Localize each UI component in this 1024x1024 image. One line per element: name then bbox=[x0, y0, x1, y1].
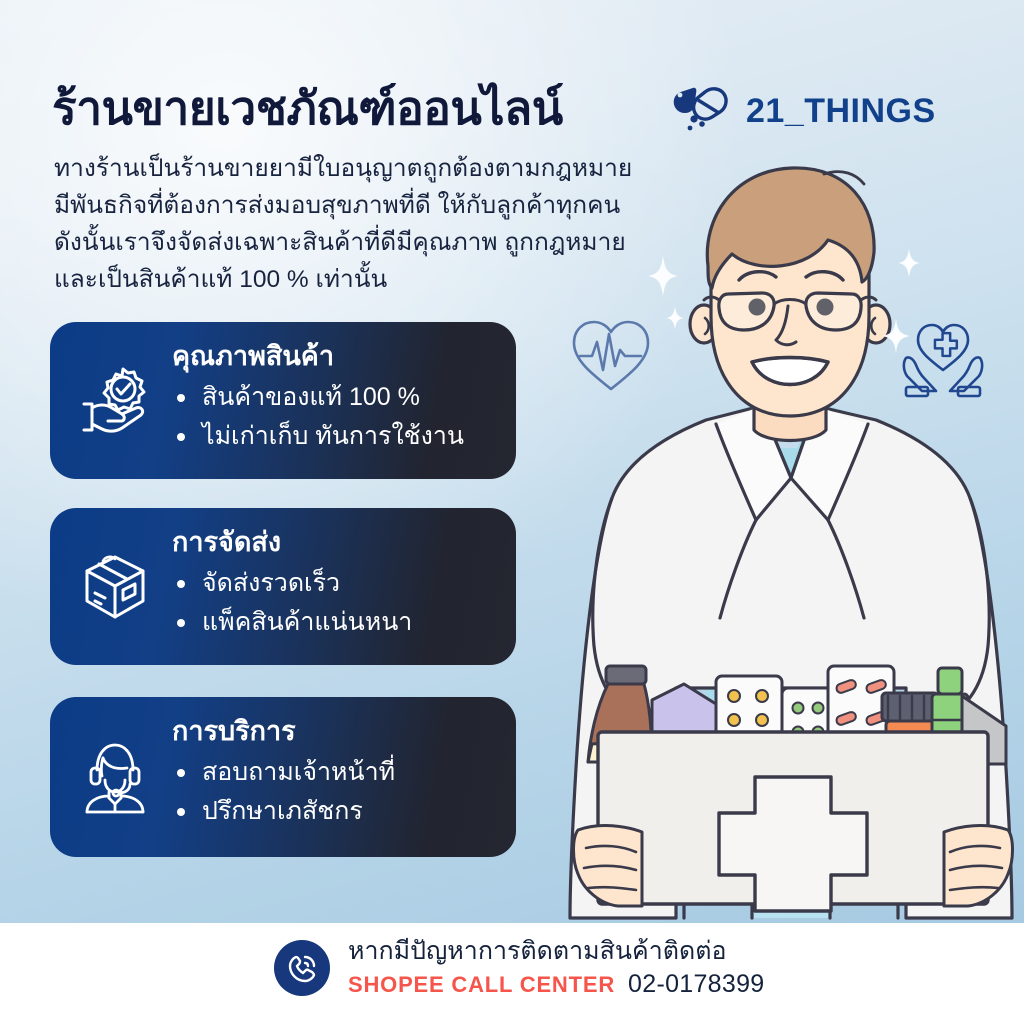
card-title: คุณภาพสินค้า bbox=[172, 336, 504, 376]
list-item: ปรึกษาเภสัชกร bbox=[172, 792, 504, 831]
poster-canvas: ร้านขายเวชภัณฑ์ออนไลน์ 21_THINGS ทางร้าน… bbox=[0, 0, 1024, 1024]
feature-card-quality[interactable]: คุณภาพสินค้า สินค้าของแท้ 100 % ไม่เก่าเ… bbox=[50, 322, 516, 479]
sparkle-icon bbox=[882, 318, 910, 359]
call-center-number[interactable]: 02-0178399 bbox=[628, 970, 764, 999]
pill-capsule-icon bbox=[672, 86, 730, 137]
card-content: การบริการ สอบถามเจ้าหน้าที่ ปรึกษาเภสัชก… bbox=[172, 711, 504, 831]
footer-text: หากมีปัญหาการติดตามสินค้าติดต่อ SHOPEE C… bbox=[348, 937, 765, 999]
card-title: การบริการ bbox=[172, 711, 504, 751]
intro-line-3: ดังนั้นเราจึงจัดส่งเฉพาะสินค้าที่ดีมีคุณ… bbox=[54, 224, 694, 261]
sparkle-icon bbox=[666, 306, 684, 335]
card-bullet-list: สินค้าของแท้ 100 % ไม่เก่าเก็บ ทันการใช้… bbox=[172, 378, 504, 456]
intro-line-4: และเป็นสินค้าแท้ 100 % เท่านั้น bbox=[54, 261, 694, 298]
list-item: สอบถามเจ้าหน้าที่ bbox=[172, 753, 504, 792]
hands-holding-heart-cross-icon bbox=[900, 318, 986, 407]
card-bullet-list: จัดส่งรวดเร็ว แพ็คสินค้าแน่นหนา bbox=[172, 564, 504, 642]
list-item: จัดส่งรวดเร็ว bbox=[172, 564, 504, 603]
card-bullet-list: สอบถามเจ้าหน้าที่ ปรึกษาเภสัชกร bbox=[172, 753, 504, 831]
page-title: ร้านขายเวชภัณฑ์ออนไลน์ bbox=[52, 72, 563, 145]
card-content: คุณภาพสินค้า สินค้าของแท้ 100 % ไม่เก่าเ… bbox=[172, 336, 504, 456]
headset-support-agent-icon bbox=[72, 734, 158, 820]
footer-bar: หากมีปัญหาการติดตามสินค้าติดต่อ SHOPEE C… bbox=[0, 923, 1024, 1024]
card-content: การจัดส่ง จัดส่งรวดเร็ว แพ็คสินค้าแน่นหน… bbox=[172, 522, 504, 642]
hand-holding-quality-badge-icon bbox=[72, 358, 158, 444]
footer-contact: SHOPEE CALL CENTER 02-0178399 bbox=[348, 970, 765, 999]
footer-content: หากมีปัญหาการติดตามสินค้าติดต่อ SHOPEE C… bbox=[274, 937, 765, 999]
call-center-label: SHOPEE CALL CENTER bbox=[348, 972, 615, 997]
sparkle-icon bbox=[898, 248, 920, 283]
feature-card-shipping[interactable]: การจัดส่ง จัดส่งรวดเร็ว แพ็คสินค้าแน่นหน… bbox=[50, 508, 516, 665]
heart-heartbeat-icon bbox=[568, 316, 654, 401]
feature-card-service[interactable]: การบริการ สอบถามเจ้าหน้าที่ ปรึกษาเภสัชก… bbox=[50, 697, 516, 857]
intro-paragraph: ทางร้านเป็นร้านขายยามีใบอนุญาตถูกต้องตาม… bbox=[54, 150, 694, 298]
card-title: การจัดส่ง bbox=[172, 522, 504, 562]
phone-call-icon[interactable] bbox=[274, 940, 330, 996]
list-item: สินค้าของแท้ 100 % bbox=[172, 378, 504, 417]
list-item: แพ็คสินค้าแน่นหนา bbox=[172, 603, 504, 642]
shipping-box-icon bbox=[72, 544, 158, 630]
brand-logo: 21_THINGS bbox=[672, 86, 936, 137]
intro-line-1: ทางร้านเป็นร้านขายยามีใบอนุญาตถูกต้องตาม… bbox=[54, 150, 694, 187]
list-item: ไม่เก่าเก็บ ทันการใช้งาน bbox=[172, 417, 504, 456]
intro-line-2: มีพันธกิจที่ต้องการส่งมอบสุขภาพที่ดี ให้… bbox=[54, 187, 694, 224]
footer-notice: หากมีปัญหาการติดตามสินค้าติดต่อ bbox=[348, 937, 765, 966]
brand-name: 21_THINGS bbox=[746, 92, 936, 131]
